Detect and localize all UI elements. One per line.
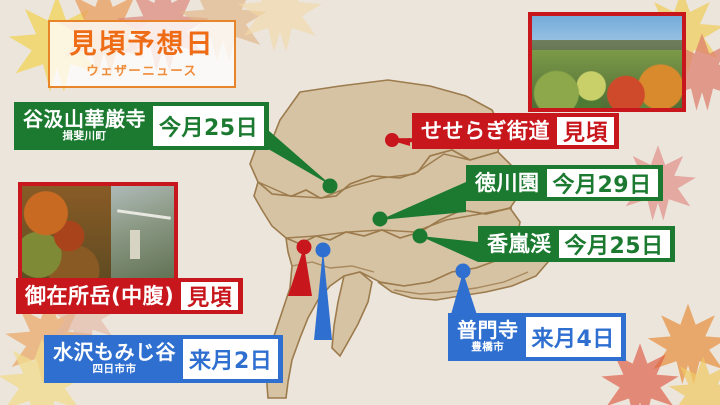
spot-name-seseragi: せせらぎ街道 [412,113,557,149]
spot-label-tanigumisan[interactable]: 谷汲山華厳寺 揖斐川町 今月25日 [14,102,269,150]
spot-name-korankei: 香嵐渓 [478,226,559,262]
dot-seseragi [385,133,399,147]
spot-value-tanigumisan: 今月25日 [153,106,264,146]
spot-name-suizawa: 水沢もみじ谷 四日市市 [44,335,183,383]
spot-label-tokugawaen[interactable]: 徳川園 今月29日 [466,165,663,201]
dot-korankei [413,229,428,244]
spot-name-tanigumisan: 谷汲山華厳寺 揖斐川町 [14,102,153,150]
photo-seseragi-frame [528,12,686,112]
spot-label-fumonji[interactable]: 普門寺 豊橋市 来月4日 [448,313,626,361]
spot-label-gozaishodake[interactable]: 御在所岳(中腹) 見頃 [16,278,243,314]
spot-value-korankei: 今月25日 [559,230,670,258]
dot-suizawa [316,243,331,258]
spot-value-fumonji: 来月4日 [526,317,621,357]
spot-name-gozaishodake: 御在所岳(中腹) [16,278,181,314]
page-title-subtitle: ウェザーニュース [86,65,197,78]
photo-gozaishodake [18,182,178,286]
spot-label-suizawa[interactable]: 水沢もみじ谷 四日市市 来月2日 [44,335,283,383]
page-title: 見頃予想日 ウェザーニュース [48,20,236,88]
spot-label-korankei[interactable]: 香嵐渓 今月25日 [478,226,675,262]
page-title-main: 見頃予想日 [70,31,215,58]
dot-tanigumisan [323,179,338,194]
spot-label-seseragi[interactable]: せせらぎ街道 見頃 [412,113,619,149]
spot-value-tokugawaen: 今月29日 [547,169,658,197]
spot-value-gozaishodake: 見頃 [181,282,238,310]
dot-gozaishodake [297,240,312,255]
photo-seseragi [528,12,686,112]
spot-value-seseragi: 見頃 [557,117,614,145]
spot-name-tokugawaen: 徳川園 [466,165,547,201]
spot-value-suizawa: 来月2日 [183,339,278,379]
spot-name-fumonji: 普門寺 豊橋市 [448,313,526,361]
photo-gozaishodake-frame [18,182,178,286]
autumn-foliage-forecast-graphic: 見頃予想日 ウェザーニュース 谷汲山華厳寺 揖斐川町 今月25日 せせらぎ街道 … [0,0,720,405]
dot-fumonji [456,264,471,279]
dot-tokugawaen [373,212,388,227]
